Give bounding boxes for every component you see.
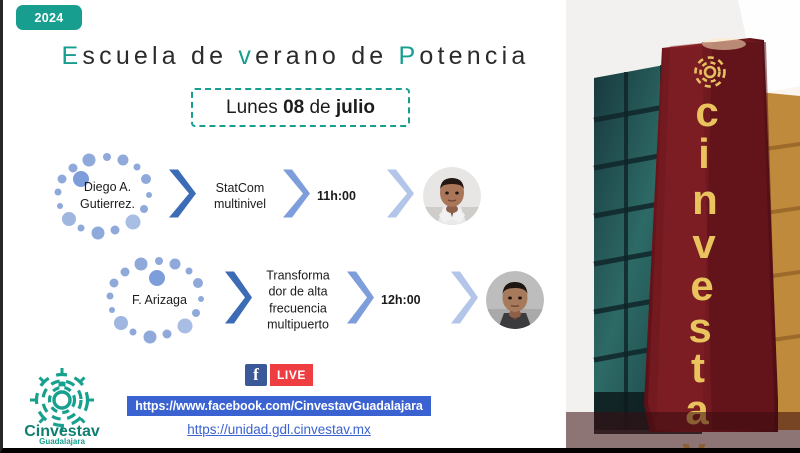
live-label: LIVE bbox=[270, 364, 313, 386]
speaker-name-line1: F. Arizaga bbox=[132, 293, 187, 307]
title-letter-e: E bbox=[62, 42, 83, 70]
speaker-avatar bbox=[486, 271, 544, 329]
cinvestav-logo: Cinvestav Guadalajara bbox=[13, 366, 111, 446]
chevron-arrow-1-icon bbox=[223, 270, 253, 331]
svg-text:n: n bbox=[692, 176, 718, 223]
chevron-arrow-3-icon bbox=[385, 168, 415, 225]
speaker-name: Diego A.Gutierrez. bbox=[45, 146, 170, 246]
speaker-name: F. Arizaga bbox=[97, 250, 222, 350]
speaker-name-line1: Diego A. bbox=[84, 180, 131, 194]
speaker-avatar bbox=[423, 167, 481, 225]
year-badge: 2024 bbox=[16, 5, 82, 30]
date-badge: Lunes 08 de julio bbox=[191, 88, 410, 127]
page-title: Escuela de verano de Potencia bbox=[43, 42, 548, 71]
title-word-erano: erano bbox=[255, 42, 340, 70]
session-row-2: F. Arizaga Transformador de altafrecuenc… bbox=[45, 250, 555, 350]
title-word-scuela: scuela bbox=[82, 42, 179, 70]
session-topic: Transformador de altafrecuenciamultipuer… bbox=[253, 268, 343, 333]
session-time: 11h:00 bbox=[317, 189, 356, 203]
topic-line1: Transforma bbox=[266, 269, 329, 283]
topic-line1: StatCom bbox=[216, 181, 265, 195]
logo-campus: Guadalajara bbox=[39, 437, 85, 446]
session-time: 12h:00 bbox=[381, 293, 421, 307]
date-month: julio bbox=[336, 97, 375, 118]
date-day: 08 bbox=[283, 97, 304, 118]
date-prefix: Lunes bbox=[226, 97, 283, 118]
svg-text:v: v bbox=[692, 220, 716, 267]
chevron-arrow-2-icon bbox=[281, 168, 311, 225]
cinvestav-building-photo: c i n v e s t a v bbox=[552, 0, 800, 448]
chevron-arrow-1-icon bbox=[167, 168, 197, 225]
svg-text:i: i bbox=[698, 130, 710, 177]
session-row-1: Diego A.Gutierrez. StatCommultinivel 11h… bbox=[45, 146, 555, 246]
title-word-otencia: otencia bbox=[419, 42, 529, 70]
topic-line2: dor de alta bbox=[268, 285, 327, 299]
title-sep-2: de bbox=[340, 42, 399, 70]
svg-text:c: c bbox=[695, 88, 718, 135]
chevron-arrow-3-icon bbox=[449, 270, 479, 331]
session-topic: StatCommultinivel bbox=[200, 180, 280, 213]
facebook-url-text[interactable]: https://www.facebook.com/CinvestavGuadal… bbox=[127, 396, 430, 416]
presentation-slide: 2024 Escuela de verano de Potencia Lunes… bbox=[0, 0, 800, 453]
facebook-icon[interactable]: f bbox=[245, 364, 267, 386]
topic-line2: multinivel bbox=[214, 197, 266, 211]
topic-line4: multipuerto bbox=[267, 317, 329, 331]
title-letter-v: v bbox=[238, 42, 255, 70]
title-letter-p: P bbox=[399, 42, 420, 70]
date-text: Lunes 08 de julio bbox=[226, 97, 375, 119]
title-sep-1: de bbox=[180, 42, 239, 70]
topic-line3: frecuencia bbox=[269, 301, 327, 315]
speaker-name-line2: Gutierrez. bbox=[80, 197, 135, 211]
chevron-arrow-2-icon bbox=[345, 270, 375, 331]
date-middle: de bbox=[304, 97, 336, 118]
svg-text:e: e bbox=[690, 262, 713, 309]
svg-text:t: t bbox=[691, 344, 705, 391]
